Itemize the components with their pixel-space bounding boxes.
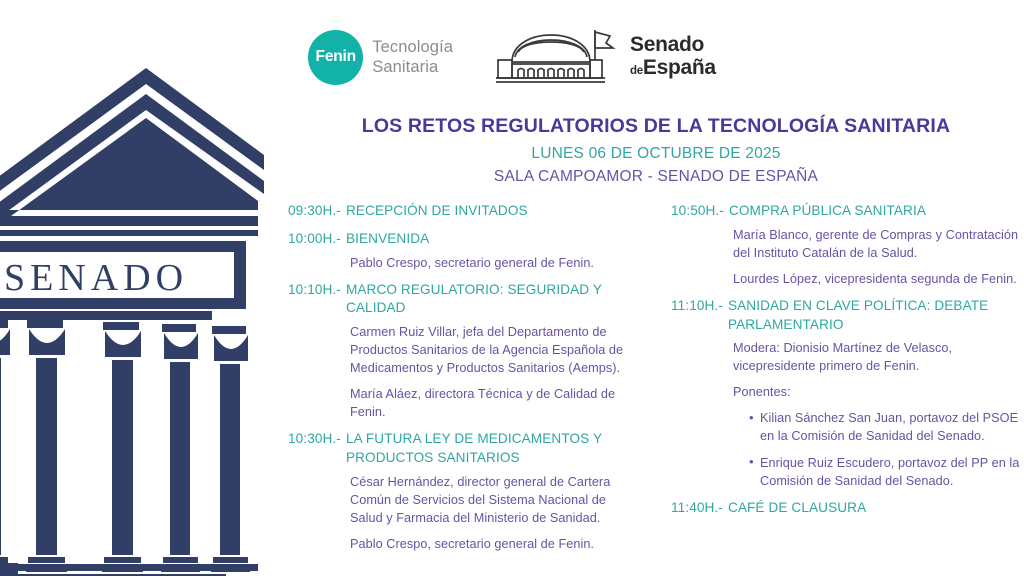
session-title: RECEPCIÓN DE INVITADOS <box>346 202 641 221</box>
session-title: BIENVENIDA <box>346 230 641 249</box>
session-title: CAFÉ DE CLAUSURA <box>728 499 1024 518</box>
speaker-list: Modera: Dionisio Martínez de Velasco, vi… <box>671 339 1024 489</box>
session-time: 10:30H.- <box>288 430 346 449</box>
logo-bar: Fenin Tecnología Sanitaria <box>0 22 1024 92</box>
session-header: 11:10H.- SANIDAD EN CLAVE POLÍTICA: DEBA… <box>671 297 1024 335</box>
fenin-tagline-line2: Sanitaria <box>372 57 453 77</box>
list-item: Kilian Sánchez San Juan, portavoz del PS… <box>749 409 1024 445</box>
session-item: 10:50H.- COMPRA PÚBLICA SANITARIA María … <box>671 202 1024 288</box>
session-time: 10:50H.- <box>671 202 729 221</box>
speaker-entry: Pablo Crespo, secretario general de Feni… <box>350 535 641 553</box>
senate-dome-building-icon <box>495 26 617 88</box>
session-header: 10:50H.- COMPRA PÚBLICA SANITARIA <box>671 202 1024 221</box>
session-time: 11:40H.- <box>671 499 728 518</box>
session-title: LA FUTURA LEY DE MEDICAMENTOS Y PRODUCTO… <box>346 430 641 468</box>
session-header: 10:00H.- BIENVENIDA <box>288 230 641 249</box>
session-item: 10:30H.- LA FUTURA LEY DE MEDICAMENTOS Y… <box>288 430 641 553</box>
speaker-entry: María Blanco, gerente de Compras y Contr… <box>733 226 1024 262</box>
session-time: 09:30H.- <box>288 202 346 221</box>
senate-building-illustration: SENADO <box>0 58 292 576</box>
session-title: COMPRA PÚBLICA SANITARIA <box>729 202 1024 221</box>
session-header: 11:40H.- CAFÉ DE CLAUSURA <box>671 499 1024 518</box>
speaker-list: Carmen Ruiz Villar, jefa del Departament… <box>288 323 641 421</box>
session-header: 10:10H.- MARCO REGULATORIO: SEGURIDAD Y … <box>288 281 641 319</box>
session-time: 11:10H.- <box>671 297 728 316</box>
session-time: 10:00H.- <box>288 230 346 249</box>
program-schedule: 09:30H.- RECEPCIÓN DE INVITADOS 10:00H.-… <box>288 202 1024 562</box>
list-item: Enrique Ruiz Escudero, portavoz del PP e… <box>749 454 1024 490</box>
fenin-circle-mark: Fenin <box>308 30 363 85</box>
fenin-tagline: Tecnología Sanitaria <box>372 37 453 78</box>
poster-canvas: SENADO <box>0 0 1024 576</box>
fenin-logo: Fenin Tecnología Sanitaria <box>308 30 453 85</box>
session-item: 09:30H.- RECEPCIÓN DE INVITADOS <box>288 202 641 221</box>
senado-word-senado: Senado <box>630 34 716 57</box>
session-title: SANIDAD EN CLAVE POLÍTICA: DEBATE PARLAM… <box>728 297 1024 335</box>
title-block: LOS RETOS REGULATORIOS DE LA TECNOLOGÍA … <box>288 114 1024 187</box>
session-time: 10:10H.- <box>288 281 346 300</box>
page-title: LOS RETOS REGULATORIOS DE LA TECNOLOGÍA … <box>288 114 1024 138</box>
speaker-list: César Hernández, director general de Car… <box>288 473 641 553</box>
fenin-mark-text: Fenin <box>316 48 356 66</box>
speaker-entry: Lourdes López, vicepresidenta segunda de… <box>733 270 1024 288</box>
speaker-list: Pablo Crespo, secretario general de Feni… <box>288 254 641 272</box>
senado-de-espana-logo: Senado deEspaña <box>495 26 716 88</box>
program-right-column: 10:50H.- COMPRA PÚBLICA SANITARIA María … <box>671 202 1024 562</box>
senado-word-de: de <box>630 65 643 77</box>
session-item: 11:10H.- SANIDAD EN CLAVE POLÍTICA: DEBA… <box>671 297 1024 490</box>
session-header: 10:30H.- LA FUTURA LEY DE MEDICAMENTOS Y… <box>288 430 641 468</box>
fenin-tagline-line1: Tecnología <box>372 37 453 57</box>
speaker-entry: Carmen Ruiz Villar, jefa del Departament… <box>350 323 641 377</box>
speaker-entry: Modera: Dionisio Martínez de Velasco, vi… <box>733 339 1024 375</box>
session-item: 10:10H.- MARCO REGULATORIO: SEGURIDAD Y … <box>288 281 641 422</box>
speaker-entry: Ponentes: <box>733 383 1024 401</box>
speaker-list: María Blanco, gerente de Compras y Contr… <box>671 226 1024 288</box>
speaker-entry: María Aláez, directora Técnica y de Cali… <box>350 385 641 421</box>
session-item: 10:00H.- BIENVENIDA Pablo Crespo, secret… <box>288 230 641 272</box>
session-title: MARCO REGULATORIO: SEGURIDAD Y CALIDAD <box>346 281 641 319</box>
event-venue: SALA CAMPOAMOR - SENADO DE ESPAÑA <box>288 167 1024 187</box>
program-left-column: 09:30H.- RECEPCIÓN DE INVITADOS 10:00H.-… <box>288 202 641 562</box>
senado-word-espana-text: España <box>643 56 716 79</box>
session-header: 09:30H.- RECEPCIÓN DE INVITADOS <box>288 202 641 221</box>
senado-wordmark: Senado deEspaña <box>630 34 716 79</box>
senado-word-espana: deEspaña <box>630 57 716 80</box>
panelist-list: Kilian Sánchez San Juan, portavoz del PS… <box>733 409 1024 489</box>
speaker-entry: Pablo Crespo, secretario general de Feni… <box>350 254 641 272</box>
event-date: LUNES 06 DE OCTUBRE DE 2025 <box>288 144 1024 164</box>
speaker-entry: César Hernández, director general de Car… <box>350 473 641 527</box>
frieze-text: SENADO <box>4 257 188 299</box>
session-item: 11:40H.- CAFÉ DE CLAUSURA <box>671 499 1024 518</box>
